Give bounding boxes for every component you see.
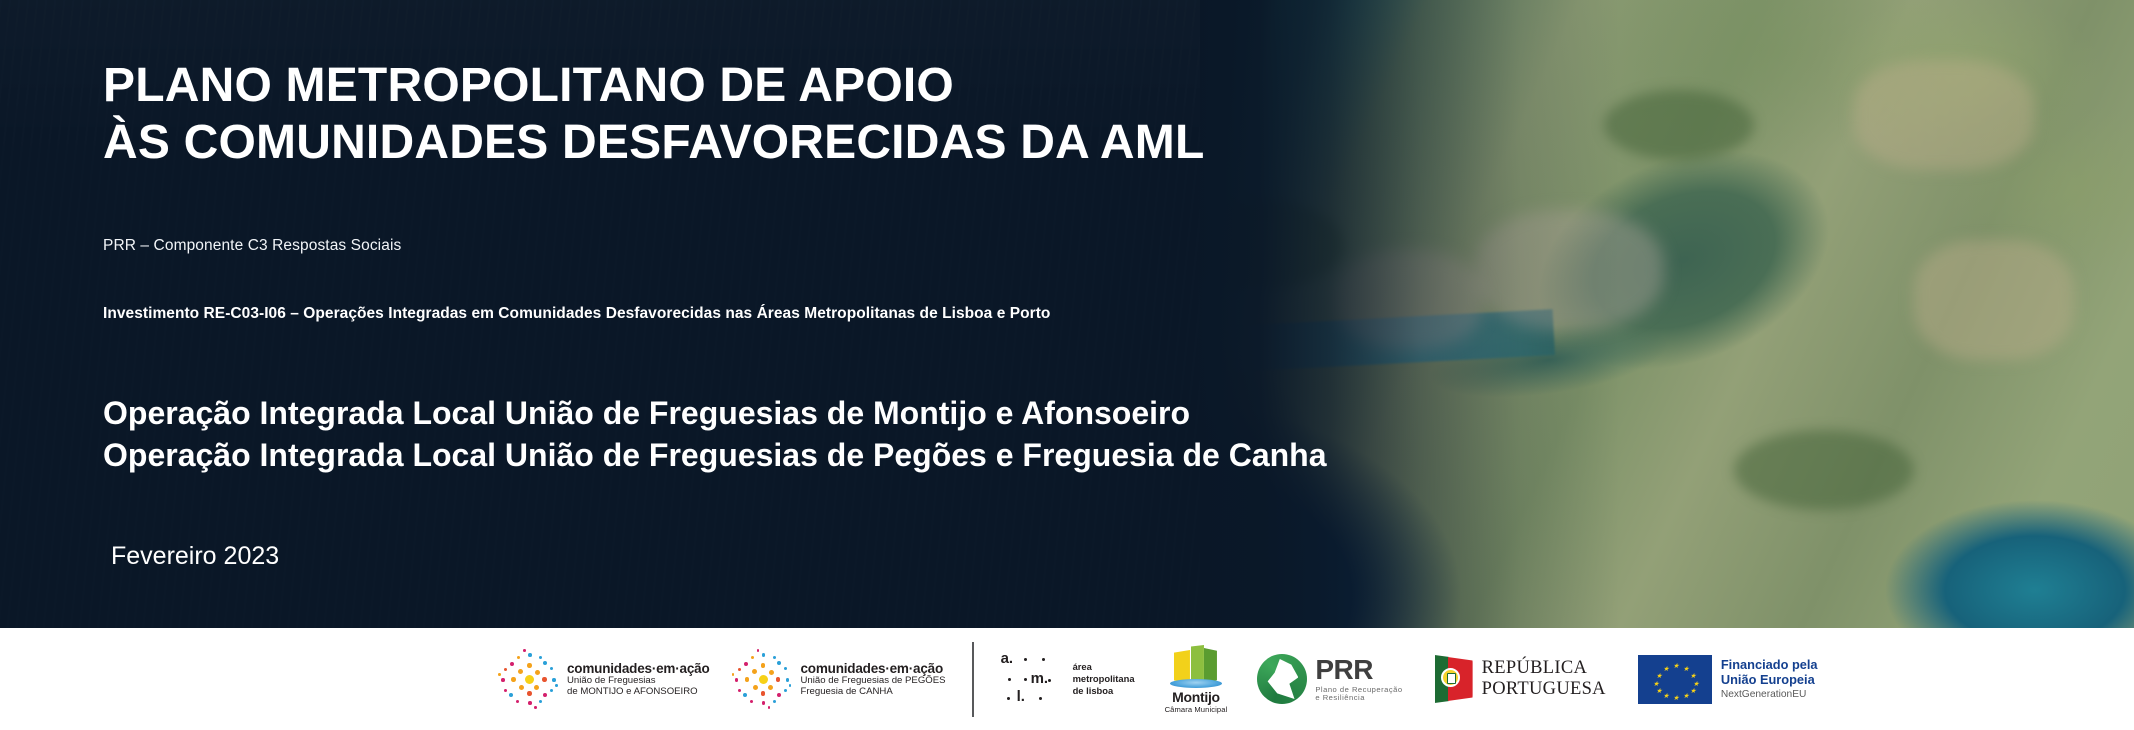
title-line-1: PLANO METROPOLITANO DE APOIO bbox=[103, 58, 1204, 115]
programme-line: PRR – Componente C3 Respostas Sociais bbox=[103, 237, 401, 255]
map-farmland-patch bbox=[1914, 240, 2074, 360]
publication-date: Fevereiro 2023 bbox=[111, 542, 279, 571]
aml-mark-icon: a. m. l. bbox=[1000, 650, 1066, 708]
aml-letter-a: a. bbox=[1001, 650, 1014, 667]
investment-line: Investimento RE-C03-I06 – Operações Inte… bbox=[103, 305, 1050, 323]
eu-line-2: União Europeia bbox=[1721, 672, 1818, 687]
logo-comunidades-em-acao-montijo: comunidades·em·ação União de Freguesias … bbox=[498, 649, 710, 709]
logo-comunidades-em-acao-pegoes: comunidades·em·ação União de Freguesias … bbox=[732, 649, 946, 709]
operations-block: Operação Integrada Local União de Fregue… bbox=[103, 392, 1327, 476]
operation-line-2: Operação Integrada Local União de Fregue… bbox=[103, 434, 1327, 476]
cea-pegoes-sub2: Freguesia de CANHA bbox=[801, 687, 946, 698]
eu-line-1: Financiado pela bbox=[1721, 657, 1818, 672]
logo-camara-municipal-montijo: Montijo Câmara Municipal bbox=[1165, 644, 1228, 714]
prr-mark-icon bbox=[1257, 654, 1307, 704]
logo-republica-portuguesa: REPÚBLICA PORTUGUESA bbox=[1435, 655, 1606, 703]
title-slide: PLANO METROPOLITANO DE APOIO ÀS COMUNIDA… bbox=[0, 0, 2134, 730]
prr-sub2: e Resiliência bbox=[1315, 694, 1402, 702]
logo-area-metropolitana-lisboa: a. m. l. área metropolitana de lisboa bbox=[1000, 650, 1135, 708]
comunidades-dots-icon bbox=[732, 649, 792, 709]
title-line-2: ÀS COMUNIDADES DESFAVORECIDAS DA AML bbox=[103, 115, 1204, 172]
eu-line-3: NextGenerationEU bbox=[1721, 689, 1818, 701]
map-farmland-patch bbox=[1854, 60, 2034, 170]
aml-letter-l: l. bbox=[1017, 688, 1025, 705]
montijo-subtitle: Câmara Municipal bbox=[1165, 705, 1228, 714]
cea-montijo-sub2: de MONTIJO e AFONSOEIRO bbox=[567, 687, 710, 698]
hero-banner: PLANO METROPOLITANO DE APOIO ÀS COMUNIDA… bbox=[0, 0, 2134, 628]
cea-montijo-title: comunidades·em·ação bbox=[567, 661, 710, 676]
montijo-title: Montijo bbox=[1172, 689, 1220, 705]
footer-logo-bar: comunidades·em·ação União de Freguesias … bbox=[0, 628, 2134, 730]
aml-line-3: de lisboa bbox=[1073, 685, 1135, 697]
operation-line-1: Operação Integrada Local União de Fregue… bbox=[103, 392, 1327, 434]
map-vegetation-patch bbox=[1734, 430, 1914, 510]
prr-title: PRR bbox=[1315, 656, 1402, 684]
cea-pegoes-title: comunidades·em·ação bbox=[801, 661, 946, 676]
page-title: PLANO METROPOLITANO DE APOIO ÀS COMUNIDA… bbox=[103, 58, 1204, 171]
footer-divider bbox=[972, 642, 974, 717]
eu-flag-icon: ★ ★ ★ ★ ★ ★ ★ ★ ★ ★ ★ ★ bbox=[1638, 655, 1712, 704]
aml-line-2: metropolitana bbox=[1073, 673, 1135, 685]
map-vegetation-patch bbox=[1604, 90, 1754, 160]
portugal-flag-icon bbox=[1435, 655, 1473, 703]
cea-pegoes-sub1: União de Freguesias de PEGÕES bbox=[801, 676, 946, 687]
aml-line-1: área bbox=[1073, 661, 1135, 673]
logo-prr: PRR Plano de Recuperação e Resiliência bbox=[1257, 654, 1402, 704]
cea-montijo-sub1: União de Freguesias bbox=[567, 676, 710, 687]
republica-line-1: REPÚBLICA bbox=[1482, 658, 1606, 679]
republica-line-2: PORTUGUESA bbox=[1482, 679, 1606, 700]
montijo-mark-icon bbox=[1168, 644, 1224, 688]
logo-uniao-europeia: ★ ★ ★ ★ ★ ★ ★ ★ ★ ★ ★ ★ Financiado pela … bbox=[1638, 655, 1818, 704]
comunidades-dots-icon bbox=[498, 649, 558, 709]
aml-letter-m: m. bbox=[1031, 670, 1049, 687]
